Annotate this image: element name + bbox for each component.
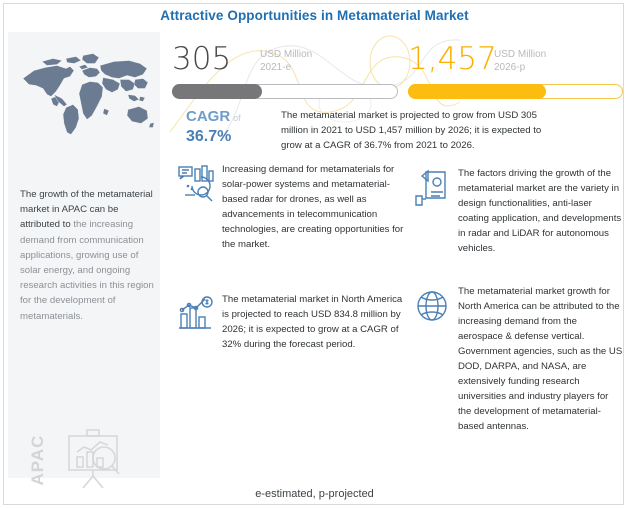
globe-icon (412, 286, 452, 326)
left-panel-description-rest: the increasing demand from communication… (20, 219, 154, 321)
kpi-end-value: 1,457 (408, 41, 497, 77)
left-panel-description: The growth of the metamaterial market in… (20, 187, 154, 324)
kpi-start-unit-label: USD Million (260, 48, 370, 61)
cagr-description: The metamaterial market is projected to … (281, 108, 549, 153)
cagr-label: CAGR (186, 108, 230, 125)
progress-bar-end-fill (408, 84, 546, 99)
feature-card-1-text: Increasing demand for metamaterials for … (222, 162, 406, 252)
kpi-start-period: 2021-e (260, 61, 370, 74)
presentation-chart-magnifier-icon (56, 424, 130, 496)
kpi-end-unit-label: USD Million (494, 48, 604, 61)
left-panel: The growth of the metamaterial market in… (8, 32, 160, 478)
world-map-icon (14, 40, 154, 152)
kpi-start-value: 305 (172, 41, 231, 77)
kpi-end-period: 2026-p (494, 61, 604, 74)
cagr-block: CAGRof 36.7% (186, 108, 278, 146)
kpi-start-unit: USD Million 2021-e (260, 48, 370, 74)
feature-card-4-text: The metamaterial market growth for North… (458, 284, 624, 434)
page-title: Attractive Opportunities in Metamaterial… (4, 8, 625, 23)
feature-card-2-text: The factors driving the growth of the me… (458, 166, 624, 256)
cagr-label-row: CAGRof (186, 108, 278, 127)
kpi-start: 305 USD Million 2021-e (172, 42, 231, 76)
kpi-end: 1,457 USD Million 2026-p (408, 42, 497, 76)
feature-card-3-text: The metamaterial market in North America… (222, 292, 406, 352)
cagr-of: of (233, 113, 241, 123)
kpi-end-unit: USD Million 2026-p (494, 48, 604, 74)
footer-note: e-estimated, p-projected (4, 488, 625, 500)
bar-chart-growth-dollar-icon (176, 294, 216, 334)
progress-bar-end (408, 84, 623, 99)
cagr-value: 36.7% (186, 127, 278, 146)
solar-radar-analysis-icon (176, 164, 216, 204)
infographic-frame: Attractive Opportunities in Metamaterial… (3, 3, 624, 505)
progress-bar-start-fill (172, 84, 262, 99)
hand-device-design-icon (412, 168, 452, 208)
watermark-label: APAC (28, 422, 48, 498)
progress-bar-start (172, 84, 398, 99)
